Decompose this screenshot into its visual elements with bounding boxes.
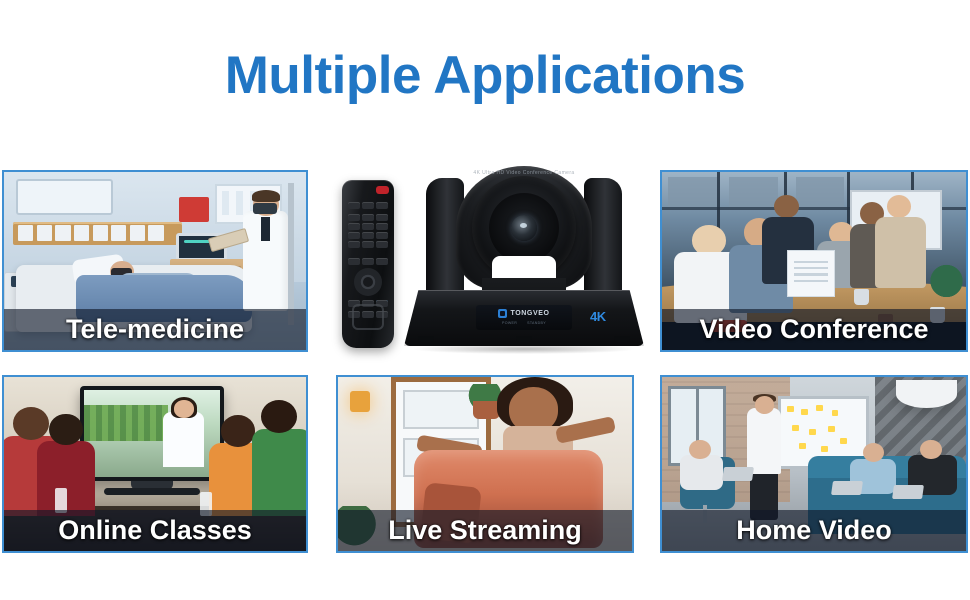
tile-caption-video-conference: Video Conference: [699, 314, 928, 345]
camera-brand-panel: TONGVEO POWER STANDBY: [476, 305, 572, 331]
classroom-display: [80, 386, 225, 482]
page-title: Multiple Applications: [0, 48, 970, 104]
remote-control[interactable]: [342, 180, 394, 348]
tile-caption-band: Home Video: [662, 510, 966, 551]
camera-base: TONGVEO POWER STANDBY 4K: [404, 290, 644, 346]
camera-led-power: POWER: [502, 321, 517, 325]
tile-caption-band: Live Streaming: [338, 510, 632, 551]
camera-4k-badge: 4K: [590, 309, 606, 324]
camera-brand-name: TONGVEO: [510, 310, 549, 317]
remote-dpad[interactable]: [354, 268, 382, 296]
tile-caption-live-streaming: Live Streaming: [388, 515, 582, 546]
tile-caption-online-classes: Online Classes: [58, 515, 252, 546]
tile-caption-tele-medicine: Tele-medicine: [66, 314, 244, 345]
camera-led-standby: STANDBY: [527, 321, 546, 325]
application-tile-live-streaming[interactable]: Live Streaming: [336, 375, 634, 553]
ptz-conference-camera[interactable]: 4K Ultra HD Video Conference Camera TONG…: [404, 160, 644, 356]
tile-caption-band: Tele-medicine: [4, 309, 306, 350]
application-tile-online-classes[interactable]: Online Classes: [2, 375, 308, 553]
tile-caption-home-video: Home Video: [736, 515, 892, 546]
tile-caption-band: Video Conference: [662, 309, 966, 350]
remote-power-button[interactable]: [376, 186, 389, 194]
tongveo-logo-icon: [498, 309, 507, 318]
tile-caption-band: Online Classes: [4, 510, 306, 551]
application-tile-home-video[interactable]: Home Video: [660, 375, 968, 553]
camera-shadow: [414, 344, 634, 354]
remote-brand-emblem: [352, 304, 384, 330]
application-tile-video-conference[interactable]: Video Conference: [660, 170, 968, 352]
application-tile-tele-medicine[interactable]: Tele-medicine: [2, 170, 308, 352]
